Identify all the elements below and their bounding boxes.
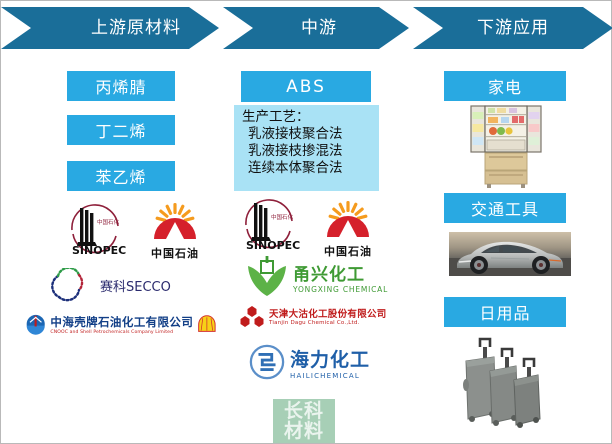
cnooc-label-cn: 中海壳牌石油化工有限公司: [50, 314, 193, 330]
haili-label-en: HAILICHEMICAL: [290, 372, 370, 380]
logo-petrochina-upstream: 中国石油: [136, 201, 214, 257]
logo-sinopec-midstream: 中国石化 SINOPEC: [238, 199, 300, 251]
upstream-box-acrylonitrile[interactable]: 丙烯腈: [67, 71, 175, 101]
yongxing-label-en: YONGXING CHEMICAL: [293, 285, 388, 294]
petrochina-icon: [136, 201, 214, 241]
upstream-box-butadiene[interactable]: 丁二烯: [67, 115, 175, 145]
downstream-box-appliances[interactable]: 家电: [444, 71, 566, 101]
process-item-1: 乳液接枝聚合法: [248, 126, 379, 143]
watermark-line-2: 材料: [284, 421, 324, 441]
svg-text:SINOPEC: SINOPEC: [246, 239, 300, 251]
photo-car: [449, 232, 571, 276]
haili-icon: [249, 344, 285, 380]
logo-tianjin-dagu: 天津大沽化工股份有限公司 Tianjin Dagu Chemical Co.,L…: [239, 303, 387, 329]
car-icon: [449, 232, 571, 276]
logo-haili-chemical: 海力化工 HAILICHEMICAL: [249, 343, 375, 381]
cnooc-icon: [25, 312, 46, 336]
shell-icon: [197, 312, 217, 336]
secco-label: 赛科SECCO: [100, 276, 171, 295]
process-heading: 生产工艺：: [242, 109, 379, 126]
svg-text:中国石化: 中国石化: [271, 213, 294, 221]
yongxing-label-cn: 甬兴化工: [293, 260, 388, 285]
luggage-icon: [456, 335, 568, 431]
refrigerator-icon: [467, 104, 545, 188]
production-process-panel: 生产工艺： 乳液接枝聚合法 乳液接枝掺混法 连续本体聚合法: [234, 105, 379, 191]
stage-label-downstream: 下游应用: [433, 7, 593, 49]
stage-label-upstream: 上游原材料: [61, 7, 211, 49]
petrochina-label: 中国石油: [136, 245, 214, 261]
watermark-logo: 长科 材料: [273, 399, 335, 443]
haili-label-cn: 海力化工: [290, 345, 370, 372]
dagu-label-cn: 天津大沽化工股份有限公司: [269, 306, 387, 320]
process-item-2: 乳液接枝掺混法: [248, 143, 379, 160]
photo-luggage: [456, 335, 568, 431]
svg-text:中国石化: 中国石化: [97, 218, 120, 226]
downstream-box-daily-goods[interactable]: 日用品: [444, 297, 566, 327]
sinopec-icon: 中国石化 SINOPEC: [64, 204, 126, 256]
upstream-box-styrene[interactable]: 苯乙烯: [67, 161, 175, 191]
photo-refrigerator: [467, 104, 545, 188]
dagu-label-en: Tianjin Dagu Chemical Co.,Ltd.: [269, 320, 387, 326]
process-item-3: 连续本体聚合法: [248, 160, 379, 177]
yongxing-icon: [245, 256, 289, 298]
dagu-icon: [239, 304, 265, 328]
cnooc-label-en: CNOOC and Shell Petrochemicals Company L…: [50, 330, 193, 335]
secco-icon: [49, 268, 95, 302]
sinopec-icon: 中国石化 SINOPEC: [238, 199, 300, 251]
process-stage-header: 上游原材料 中游 下游应用: [1, 7, 612, 49]
watermark-line-1: 长科: [284, 401, 324, 421]
petrochina-icon: [309, 199, 387, 239]
svg-text:SINOPEC: SINOPEC: [72, 244, 126, 256]
logo-sinopec-upstream: 中国石化 SINOPEC: [64, 204, 126, 256]
logo-cnooc-shell: 中海壳牌石油化工有限公司 CNOOC and Shell Petrochemic…: [25, 311, 217, 337]
midstream-product-abs[interactable]: ABS: [241, 71, 371, 102]
downstream-box-transport[interactable]: 交通工具: [444, 193, 566, 223]
slide-canvas: 上游原材料 中游 下游应用 丙烯腈 丁二烯 苯乙烯 中国石化 SINOPEC: [0, 0, 612, 444]
logo-secco-upstream: 赛科SECCO: [49, 268, 189, 302]
logo-petrochina-midstream: 中国石油: [309, 199, 387, 255]
stage-label-midstream: 中游: [249, 7, 389, 49]
logo-yongxing-chemical: 甬兴化工 YONGXING CHEMICAL: [245, 256, 395, 298]
